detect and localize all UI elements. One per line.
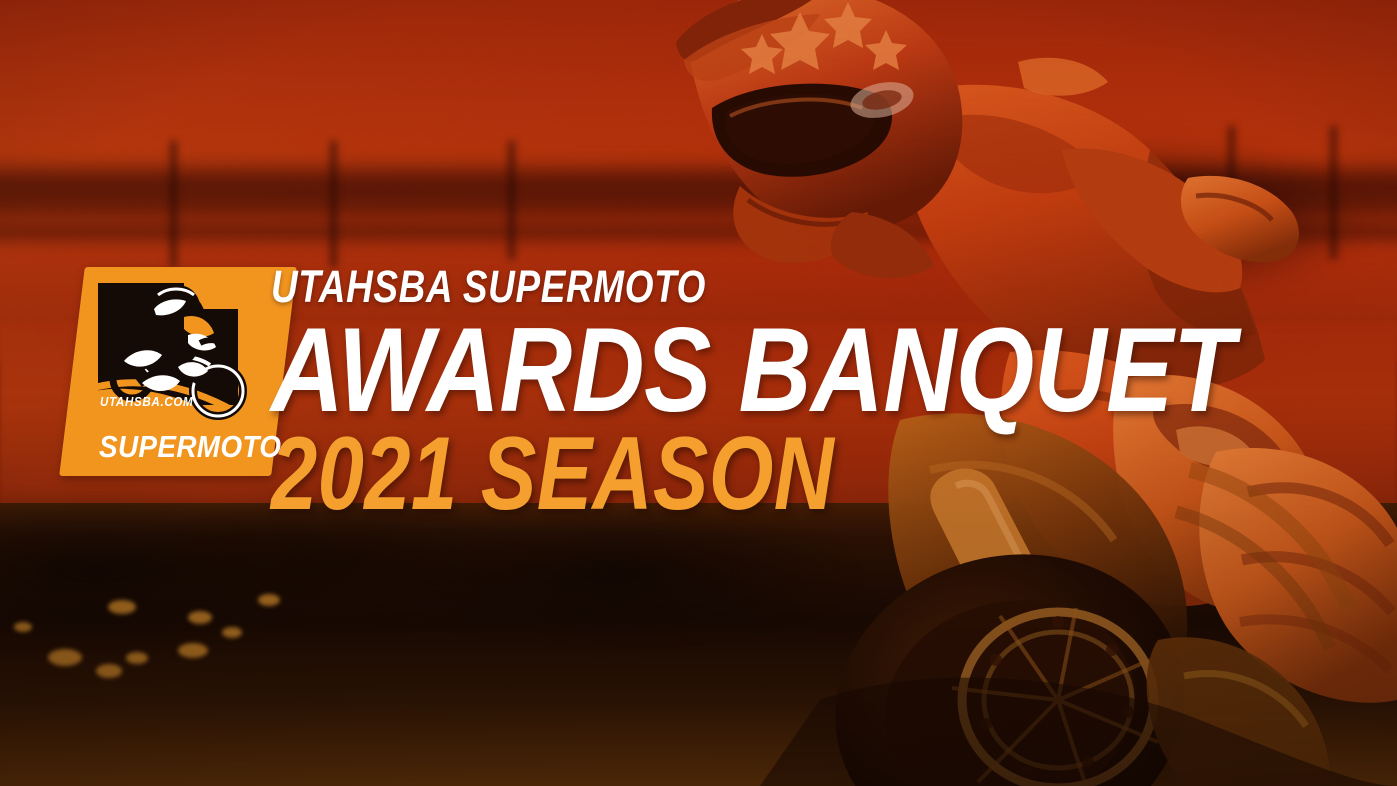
headline-block: UTAHSBA SUPERMOTO AWARDS BANQUET 2021 SE…: [271, 262, 1171, 522]
logo-url-text: UTAHSBA.COM: [100, 395, 193, 409]
awards-banquet-banner: UTAHSBA.COM SUPERMOTO UTAHSBA SUPERMOTO …: [0, 0, 1397, 786]
logo-wordmark: SUPERMOTO: [99, 429, 281, 465]
event-title: AWARDS BANQUET: [271, 316, 1027, 424]
utahsba-supermoto-logo: UTAHSBA.COM SUPERMOTO: [59, 267, 297, 476]
event-subtitle: 2021 SEASON: [271, 426, 991, 522]
